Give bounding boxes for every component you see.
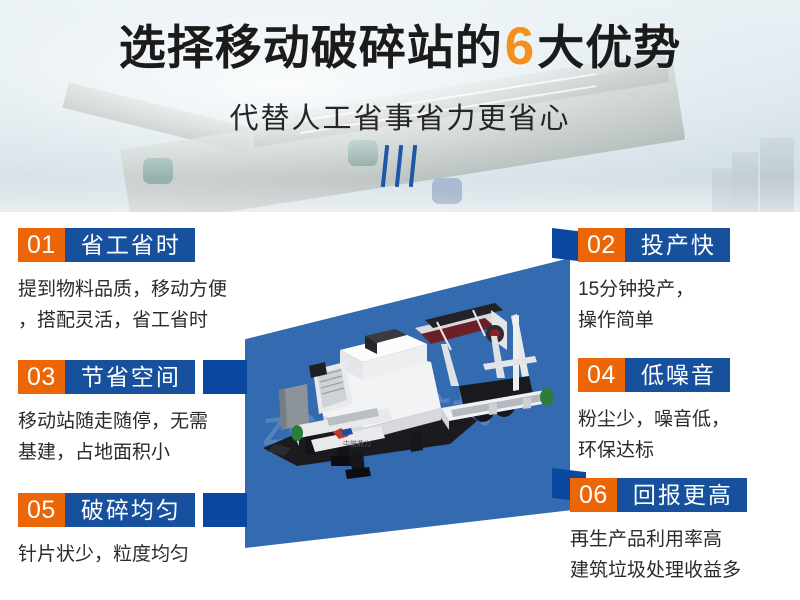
feature-body-06: 再生产品利用率高 建筑垃圾处理收益多 <box>570 524 747 586</box>
feature-header-02: 02 投产快 <box>578 228 730 262</box>
feature-title-01: 省工省时 <box>65 228 195 262</box>
feature-number-04: 04 <box>578 358 625 392</box>
feature-header-03: 03 节省空间 <box>18 360 195 394</box>
feature-header-05: 05 破碎均匀 <box>18 493 195 527</box>
feature-card-04[interactable]: 04 低噪音 粉尘少，噪音低， 环保达标 <box>578 358 730 466</box>
tick-bar-1 <box>381 145 389 187</box>
feature-number-05: 05 <box>18 493 65 527</box>
feature-header-01: 01 省工省时 <box>18 228 195 262</box>
feature-card-03[interactable]: 03 节省空间 移动站随走随停，无需 基建，占地面积小 <box>18 360 208 468</box>
feature-title-02: 投产快 <box>625 228 730 262</box>
feature-title-04: 低噪音 <box>625 358 730 392</box>
infographic-canvas: 选择移动破碎站的6大优势 代替人工省事省力更省心 ZG 中国矿机 <box>0 0 800 600</box>
page-title: 选择移动破碎站的6大优势 <box>0 20 800 73</box>
feature-body-04: 粉尘少，噪音低， 环保达标 <box>578 404 730 466</box>
feature-title-03: 节省空间 <box>65 360 195 394</box>
feature-header-04: 04 低噪音 <box>578 358 730 392</box>
tick-bar-3 <box>409 145 417 187</box>
page-title-suffix: 大优势 <box>537 21 681 74</box>
header-banner: 选择移动破碎站的6大优势 代替人工省事省力更省心 <box>0 0 800 212</box>
page-title-number: 6 <box>503 17 537 76</box>
tick-marks-divider <box>365 145 435 189</box>
feature-title-05: 破碎均匀 <box>65 493 195 527</box>
feature-number-01: 01 <box>18 228 65 262</box>
page-subtitle: 代替人工省事省力更省心 <box>0 95 800 137</box>
feature-card-02[interactable]: 02 投产快 15分钟投产， 操作简单 <box>578 228 730 336</box>
feature-body-03: 移动站随走随停，无需 基建，占地面积小 <box>18 406 208 468</box>
feature-body-02: 15分钟投产， 操作简单 <box>578 274 730 336</box>
mobile-crusher-illustration: 中誉鼎力 <box>245 258 570 548</box>
feature-header-06: 06 回报更高 <box>570 478 747 512</box>
page-title-prefix: 选择移动破碎站的 <box>119 21 503 74</box>
feature-title-06: 回报更高 <box>617 478 747 512</box>
feature-card-06[interactable]: 06 回报更高 再生产品利用率高 建筑垃圾处理收益多 <box>570 478 747 586</box>
feature-card-05[interactable]: 05 破碎均匀 针片状少，粒度均匀 <box>18 493 195 570</box>
navy-accent-block-left-1 <box>203 360 247 394</box>
svg-text:中誉鼎力: 中誉鼎力 <box>343 439 371 448</box>
feature-number-06: 06 <box>570 478 617 512</box>
center-stage: ZG 中国矿机 <box>245 258 570 548</box>
feature-number-03: 03 <box>18 360 65 394</box>
navy-accent-block-left-2 <box>203 493 247 527</box>
feature-body-05: 针片状少，粒度均匀 <box>18 539 195 570</box>
feature-number-02: 02 <box>578 228 625 262</box>
feature-card-01[interactable]: 01 省工省时 提到物料品质，移动方便 ，搭配灵活，省工省时 <box>18 228 227 336</box>
feature-body-01: 提到物料品质，移动方便 ，搭配灵活，省工省时 <box>18 274 227 336</box>
tick-bar-2 <box>395 145 403 187</box>
